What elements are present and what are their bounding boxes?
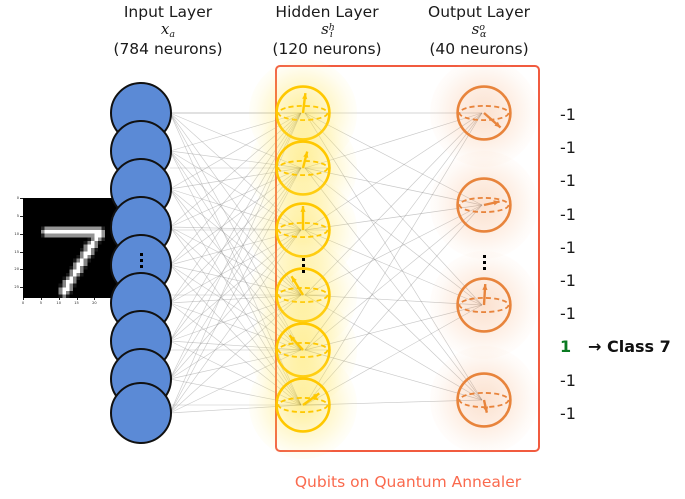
input-ellipsis <box>136 250 146 271</box>
mnist-x-tick-label: 10 <box>56 301 62 305</box>
mnist-x-tick-label: 15 <box>74 301 80 305</box>
mnist-y-tickmark <box>20 234 22 235</box>
readout-value: -1 <box>560 304 590 323</box>
readout-value: -1 <box>560 138 590 157</box>
output-qubit-node <box>456 277 512 333</box>
readout-value: -1 <box>560 205 590 224</box>
annealer-caption: Qubits on Quantum Annealer <box>258 473 558 491</box>
mnist-y-tickmark <box>20 198 22 199</box>
readout-value: -1 <box>560 271 590 290</box>
mnist-y-tickmark <box>20 287 22 288</box>
readout-value: -1 <box>560 238 590 257</box>
mnist-y-tick-label: 25 <box>12 285 19 289</box>
mnist-y-tickmark <box>20 216 22 217</box>
mnist-y-tick-label: 20 <box>12 267 19 271</box>
output-qubit-node <box>456 85 512 141</box>
mnist-x-tick-label: 20 <box>91 301 97 305</box>
output-qubit-node <box>456 177 512 233</box>
mnist-plot-frame <box>23 198 123 298</box>
readout-value: -1 <box>560 371 590 390</box>
mnist-y-tick-label: 0 <box>12 196 19 200</box>
hidden-qubit-node <box>275 377 331 433</box>
mnist-y-tick-label: 10 <box>12 232 19 236</box>
readout-value: -1 <box>560 404 590 423</box>
mnist-x-tick-label: 5 <box>38 301 44 305</box>
readout-value: -1 <box>560 171 590 190</box>
mnist-y-tick-label: 15 <box>12 250 19 254</box>
mnist-digit-canvas <box>23 198 123 298</box>
predicted-class-label: → Class 7 <box>588 337 685 356</box>
readout-value-active: 1 <box>560 337 590 356</box>
readout-value: -1 <box>560 105 590 124</box>
output-ellipsis <box>479 252 489 273</box>
output-qubit-node <box>456 372 512 428</box>
mnist-y-tickmark <box>20 269 22 270</box>
mnist-y-tick-label: 5 <box>12 214 19 218</box>
mnist-y-tickmark <box>20 252 22 253</box>
mnist-x-tick-label: 0 <box>20 301 26 305</box>
input-neuron-node <box>110 382 172 444</box>
hidden-ellipsis <box>298 255 308 276</box>
figure-canvas: Input Layer xa (784 neurons) Hidden Laye… <box>0 0 685 499</box>
